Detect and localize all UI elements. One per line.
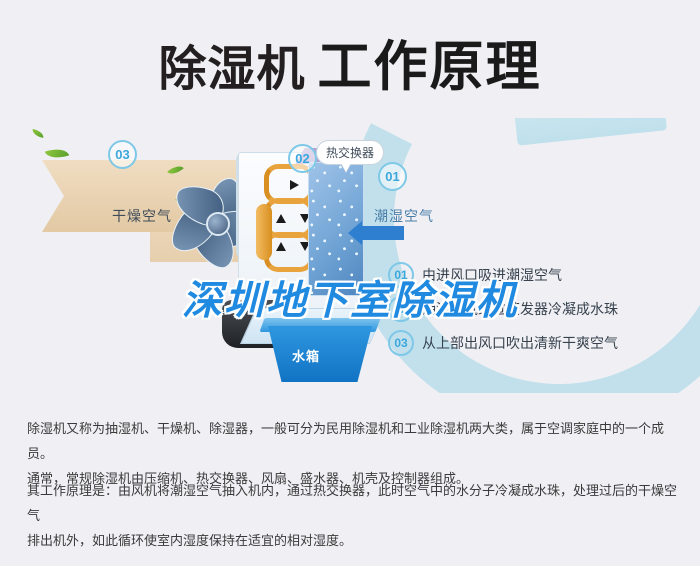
water-tank-label: 水箱 — [292, 346, 320, 365]
diagram-badge-03: 03 — [108, 140, 137, 169]
step-text-02: 潮湿空气经过蒸发器冷凝成水珠 — [422, 299, 618, 319]
diagram-badge-01: 01 — [378, 162, 407, 191]
leaf-icon — [45, 145, 69, 162]
page-title-primary: 除湿机 — [158, 43, 305, 96]
step-number-03: 03 — [388, 330, 414, 356]
page-title-secondary: 工作原理 — [318, 37, 542, 97]
flow-arrow-up-icon — [276, 242, 286, 251]
blue-inlet-arrow-icon — [362, 226, 404, 240]
step-text-01: 由进风口吸进潮湿空气 — [422, 265, 562, 285]
step-number-02: 02 — [388, 296, 414, 322]
condenser-coil-icon — [254, 164, 310, 292]
dry-air-label: 干燥空气 — [112, 206, 172, 226]
list-item: 02 潮湿空气经过蒸发器冷凝成水珠 — [388, 292, 688, 326]
step-text-03: 从上部出风口吹出清新干爽空气 — [422, 333, 618, 353]
page-title: 除湿机工作原理 — [0, 22, 700, 101]
list-item: 03 从上部出风口吹出清新干爽空气 — [388, 326, 688, 360]
flow-arrow-right-icon — [290, 180, 299, 190]
description-paragraph-2: 其工作原理是：由风机将潮湿空气抽入机内，通过热交换器，此时空气中的水分子冷凝成水… — [27, 478, 677, 553]
diagram-badge-02: 02 — [288, 144, 317, 173]
description-line: 其工作原理是：由风机将潮湿空气抽入机内，通过热交换器，此时空气中的水分子冷凝成水… — [27, 478, 677, 528]
step-number-01: 01 — [388, 262, 414, 288]
flow-arrow-up-icon — [276, 214, 286, 223]
description-line: 排出机外，如此循环使室内湿度保持在适宜的相对湿度。 — [27, 528, 677, 553]
page-root: 除湿机工作原理 — [0, 0, 700, 566]
heat-exchanger-callout: 热交换器 — [316, 140, 384, 165]
list-item: 01 由进风口吸进潮湿空气 — [388, 258, 688, 292]
steps-list: 01 由进风口吸进潮湿空气 02 潮湿空气经过蒸发器冷凝成水珠 03 从上部出风… — [388, 258, 688, 360]
leaf-icon — [31, 129, 44, 138]
description-line: 除湿机又称为抽湿机、干燥机、除湿器，一般可分为民用除湿机和工业除湿机两大类，属于… — [27, 416, 677, 466]
humid-air-label: 潮湿空气 — [374, 206, 434, 226]
